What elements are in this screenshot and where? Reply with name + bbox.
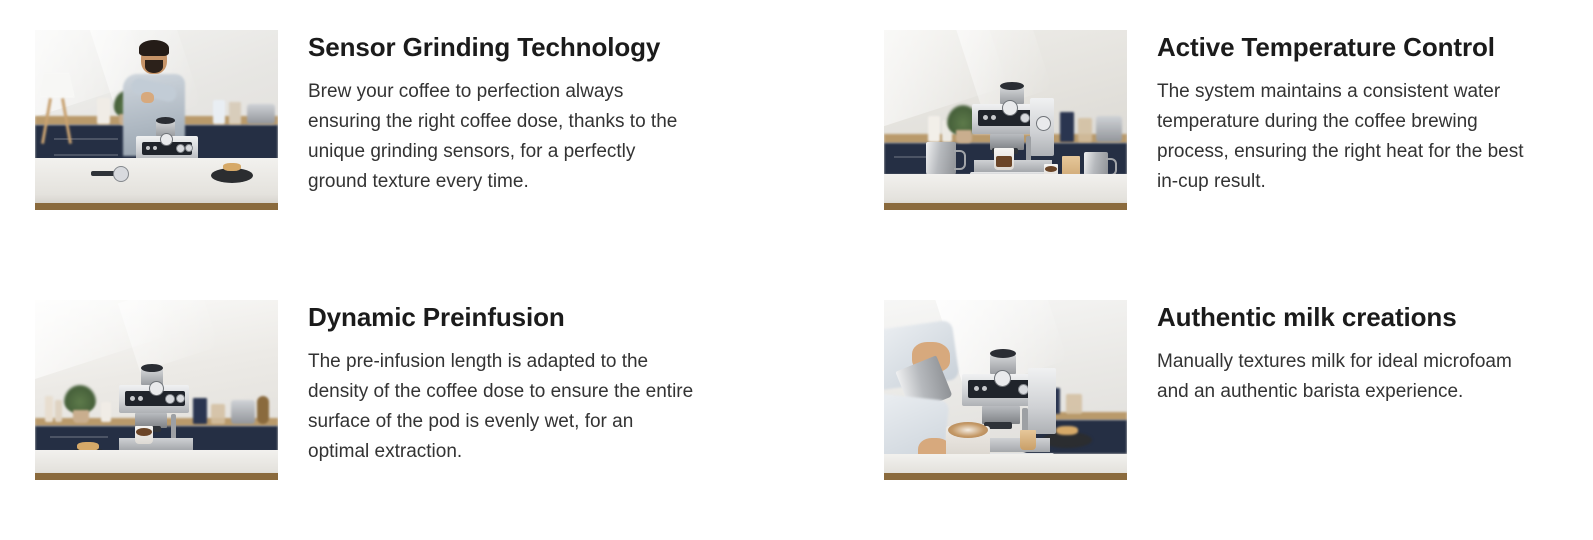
feature-text-authentic-milk: Authentic milk creations Manually textur… <box>1127 300 1547 407</box>
feature-text-sensor-grinding: Sensor Grinding Technology Brew your cof… <box>278 30 698 197</box>
photo-sensor-grinding <box>35 30 278 210</box>
feature-description: Brew your coffee to perfection always en… <box>308 77 698 197</box>
feature-description: The system maintains a consistent water … <box>1157 77 1547 197</box>
photo-dynamic-preinfusion <box>35 300 278 480</box>
photo-active-temperature <box>884 30 1127 210</box>
feature-row-bottom: Dynamic Preinfusion The pre-infusion len… <box>0 300 1593 488</box>
feature-description: The pre-infusion length is adapted to th… <box>308 347 698 467</box>
feature-card-authentic-milk: Authentic milk creations Manually textur… <box>842 300 1593 488</box>
feature-title: Active Temperature Control <box>1157 30 1547 65</box>
feature-card-dynamic-preinfusion: Dynamic Preinfusion The pre-infusion len… <box>0 300 842 488</box>
feature-row-top: Sensor Grinding Technology Brew your cof… <box>0 30 1593 300</box>
feature-title: Dynamic Preinfusion <box>308 300 698 335</box>
feature-card-sensor-grinding: Sensor Grinding Technology Brew your cof… <box>0 30 842 300</box>
photo-authentic-milk <box>884 300 1127 480</box>
feature-text-dynamic-preinfusion: Dynamic Preinfusion The pre-infusion len… <box>278 300 698 467</box>
feature-text-active-temperature: Active Temperature Control The system ma… <box>1127 30 1547 197</box>
feature-description: Manually textures milk for ideal microfo… <box>1157 347 1547 407</box>
feature-card-active-temperature: Active Temperature Control The system ma… <box>842 30 1593 300</box>
feature-title: Authentic milk creations <box>1157 300 1547 335</box>
feature-title: Sensor Grinding Technology <box>308 30 698 65</box>
feature-grid: Sensor Grinding Technology Brew your cof… <box>0 0 1593 540</box>
